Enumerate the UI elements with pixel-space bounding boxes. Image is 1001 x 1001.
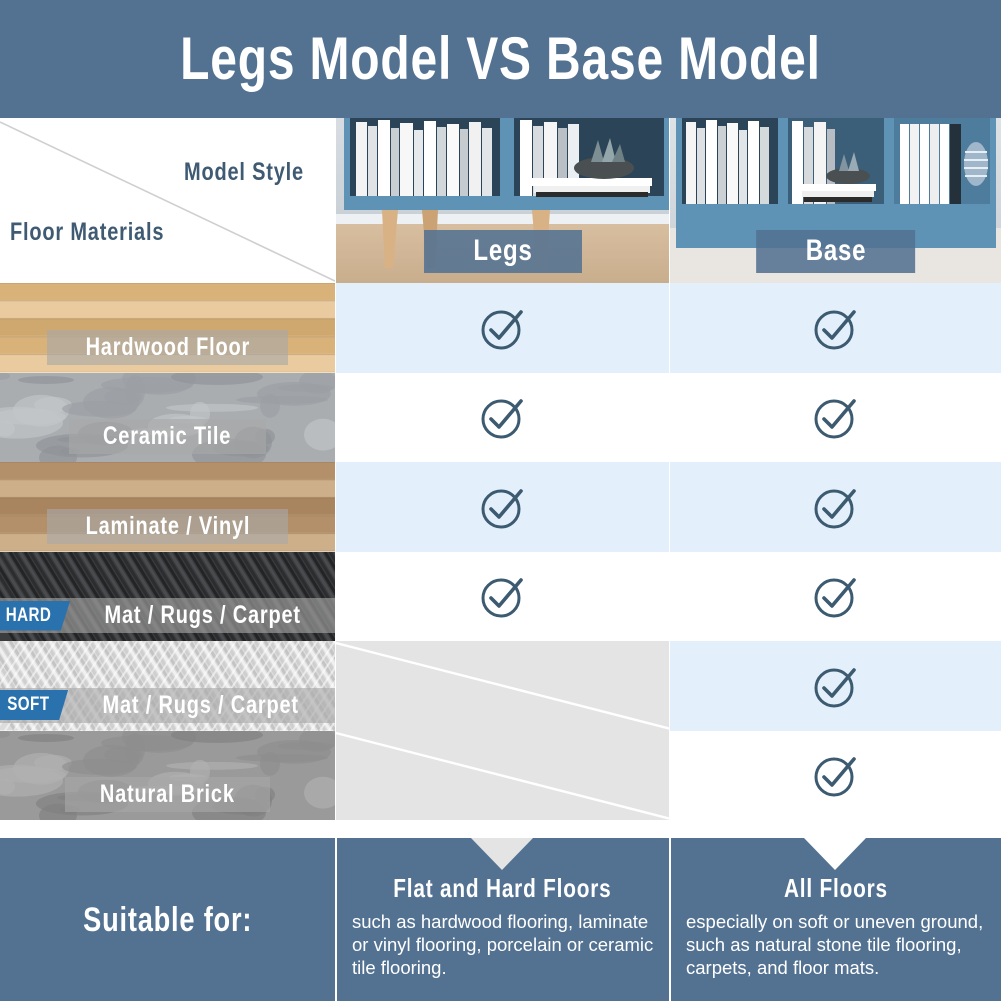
footer-summary: Suitable for: Flat and Hard Floors such …	[0, 838, 1001, 1001]
base-caption: Base	[756, 230, 916, 273]
base-cell	[670, 373, 1001, 463]
material-swatch: Natural Brick	[0, 731, 335, 821]
diagonal-strike-icon	[336, 641, 669, 731]
legs-caption: Legs	[423, 230, 581, 273]
comparison-infographic: Legs Model VS Base Model Model Style Flo…	[0, 0, 1001, 1001]
material-hardness-badge: HARD	[0, 601, 70, 631]
legs-cell	[336, 462, 669, 552]
base-cell	[670, 283, 1001, 373]
material-swatch: HARDMat / Rugs / Carpet	[0, 552, 335, 642]
material-label: Mat / Rugs / Carpet	[105, 601, 301, 629]
material-swatch: SOFTMat / Rugs / Carpet	[0, 641, 335, 731]
check-circle-icon	[811, 750, 861, 800]
material-label: Natural Brick	[100, 780, 235, 808]
material-swatch: Hardwood Floor	[0, 283, 335, 373]
material-hardness-badge: SOFT	[0, 690, 68, 720]
material-label: Ceramic Tile	[103, 422, 231, 450]
material-swatch: Ceramic Tile	[0, 373, 335, 463]
material-label: Laminate / Vinyl	[85, 512, 250, 540]
base-cell	[670, 552, 1001, 642]
base-footer-column: All Floors especially on soft or uneven …	[670, 838, 1001, 1001]
material-swatch: Laminate / Vinyl	[0, 462, 335, 552]
corner-header-cell: Model Style Floor Materials	[0, 118, 335, 283]
material-label: Hardwood Floor	[85, 333, 250, 361]
check-circle-icon	[811, 571, 861, 621]
legs-cell	[336, 641, 669, 731]
material-label-chip: Hardwood Floor	[47, 330, 289, 365]
check-circle-icon	[811, 661, 861, 711]
check-circle-icon	[478, 571, 528, 621]
diagonal-strike-icon	[336, 731, 669, 821]
model-style-label: Model Style	[169, 158, 319, 187]
comparison-table: Model Style Floor Materials	[0, 118, 1001, 838]
suitable-for-label: Suitable for:	[0, 838, 335, 1001]
check-circle-icon	[811, 303, 861, 353]
base-footer-heading: All Floors	[670, 874, 1001, 902]
base-footer-body: especially on soft or uneven ground, suc…	[670, 910, 1001, 979]
legs-header-photo: Legs	[336, 118, 669, 283]
material-label-chip: Laminate / Vinyl	[47, 509, 289, 544]
material-label-chip: Natural Brick	[65, 777, 270, 812]
material-label-chip: Ceramic Tile	[69, 419, 265, 454]
material-label-chip: SOFTMat / Rugs / Carpet	[0, 688, 335, 723]
page-title-bar: Legs Model VS Base Model	[0, 0, 1001, 118]
legs-footer-heading: Flat and Hard Floors	[336, 874, 669, 902]
check-circle-icon	[478, 482, 528, 532]
page-title: Legs Model VS Base Model	[100, 29, 901, 89]
legs-footer-column: Flat and Hard Floors such as hardwood fl…	[336, 838, 669, 1001]
check-circle-icon	[811, 392, 861, 442]
floor-materials-label: Floor Materials	[10, 218, 203, 247]
base-cell	[670, 731, 1001, 821]
base-cell	[670, 641, 1001, 731]
diagonal-divider-icon	[0, 118, 335, 283]
legs-cell	[336, 373, 669, 463]
check-circle-icon	[478, 303, 528, 353]
legs-cell	[336, 731, 669, 821]
base-cell	[670, 462, 1001, 552]
legs-cell	[336, 552, 669, 642]
base-header-photo: Base	[670, 118, 1001, 283]
material-label-chip: HARDMat / Rugs / Carpet	[0, 598, 335, 633]
legs-footer-body: such as hardwood flooring, laminate or v…	[336, 910, 669, 979]
legs-cell	[336, 283, 669, 373]
material-label: Mat / Rugs / Carpet	[103, 691, 299, 719]
check-circle-icon	[478, 392, 528, 442]
check-circle-icon	[811, 482, 861, 532]
